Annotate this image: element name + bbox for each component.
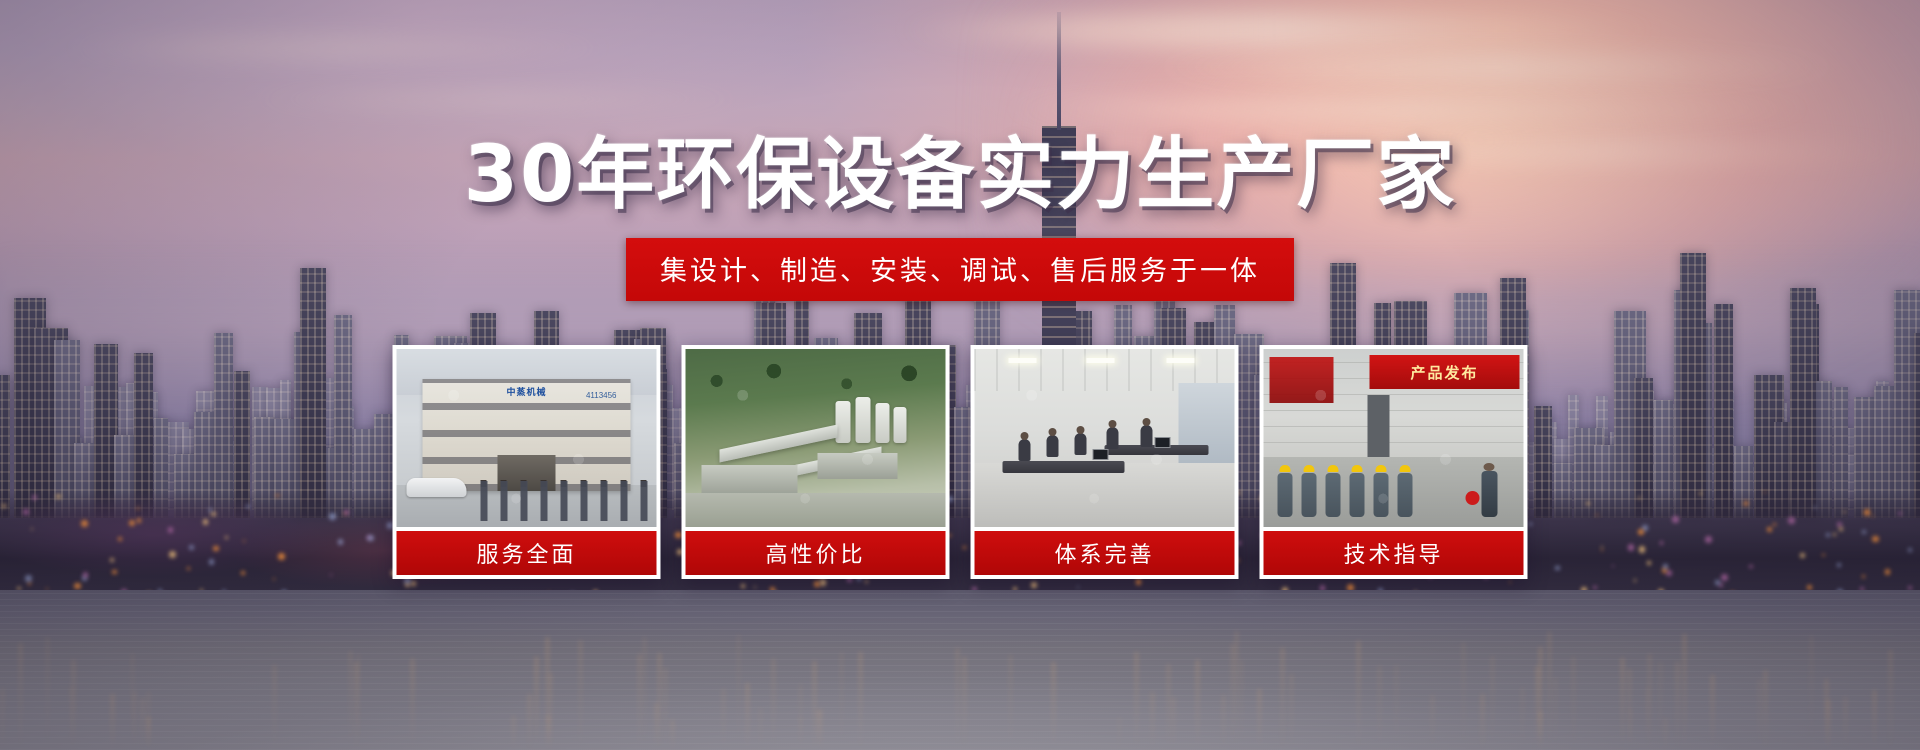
photo-building: 中蒸机械 4113456 (423, 379, 631, 491)
photo-window-wall (1179, 383, 1235, 469)
photo-person (1141, 425, 1153, 447)
card-label: 技术指导 (1264, 531, 1524, 575)
feature-card[interactable]: 产品发布 技术指导 (1260, 345, 1528, 579)
photo-worker (1302, 473, 1317, 517)
photo-side-banner (1270, 357, 1334, 403)
subtitle-banner: 集设计、制造、安装、调试、售后服务于一体 (626, 238, 1294, 301)
card-label: 体系完善 (975, 531, 1235, 575)
photo-monitor (1155, 437, 1171, 448)
photo-ceiling-lamp (1087, 358, 1115, 363)
photo-phone-sign: 4113456 (586, 391, 617, 400)
photo-person (1019, 439, 1031, 461)
photo-worker (1398, 473, 1413, 517)
photo-worker (1278, 473, 1293, 517)
photo-trees (686, 349, 946, 407)
photo-person (1107, 427, 1119, 449)
photo-company-sign: 中蒸机械 (506, 385, 546, 398)
card-photo-office-interior (975, 349, 1235, 527)
photo-supervisor (1482, 471, 1498, 517)
photo-ceiling-lamp (1167, 358, 1195, 363)
photo-worker (1350, 473, 1365, 517)
headline: 30年环保设备实力生产厂家 (0, 112, 1920, 224)
photo-desk (1003, 461, 1125, 473)
card-label: 高性价比 (686, 531, 946, 575)
photo-warehouse-roof (818, 453, 898, 479)
banner-content: 30年环保设备实力生产厂家 集设计、制造、安装、调试、售后服务于一体 中蒸机械 … (0, 0, 1920, 750)
photo-silo (894, 407, 907, 443)
photo-warehouse-roof (702, 465, 798, 495)
photo-silo (876, 403, 890, 443)
photo-car (407, 478, 467, 497)
photo-person (1075, 433, 1087, 455)
photo-monitor (1093, 449, 1109, 460)
feature-card[interactable]: 中蒸机械 4113456 服务全面 (393, 345, 661, 579)
photo-silo (856, 397, 871, 443)
feature-cards: 中蒸机械 4113456 服务全面 (393, 345, 1528, 579)
card-photo-office-building: 中蒸机械 4113456 (397, 349, 657, 527)
card-label: 服务全面 (397, 531, 657, 575)
photo-worker (1326, 473, 1341, 517)
photo-worker (1374, 473, 1389, 517)
card-photo-workshop: 产品发布 (1264, 349, 1524, 527)
photo-door (1368, 395, 1390, 457)
photo-red-helmet (1466, 491, 1480, 505)
photo-staff-row (481, 481, 651, 521)
feature-card[interactable]: 高性价比 (682, 345, 950, 579)
feature-card[interactable]: 体系完善 (971, 345, 1239, 579)
photo-road (686, 493, 946, 527)
photo-ceiling-lamp (1009, 358, 1037, 363)
card-photo-factory-aerial (686, 349, 946, 527)
photo-red-banner: 产品发布 (1370, 355, 1520, 389)
hero-banner: 30年环保设备实力生产厂家 集设计、制造、安装、调试、售后服务于一体 中蒸机械 … (0, 0, 1920, 750)
photo-person (1047, 435, 1059, 457)
photo-silo (836, 401, 851, 443)
